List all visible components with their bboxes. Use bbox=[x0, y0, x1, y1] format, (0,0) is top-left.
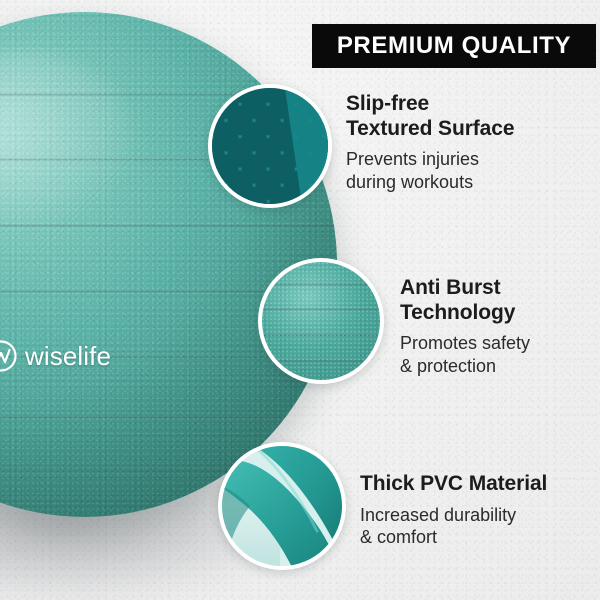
ball-surface-closeup-icon bbox=[258, 258, 384, 384]
banner-label: PREMIUM QUALITY bbox=[337, 32, 571, 60]
folded-pvc-sheet-icon bbox=[218, 442, 346, 570]
brand-wordmark: wiselife bbox=[25, 341, 111, 372]
feature-thick-pvc-material: Thick PVC Material Increased durability … bbox=[218, 442, 547, 570]
feature-slip-free-textured-surface: Slip-free Textured Surface Prevents inju… bbox=[208, 84, 514, 208]
feature-title: Anti Burst Technology bbox=[400, 276, 530, 325]
premium-quality-banner: PREMIUM QUALITY bbox=[312, 24, 596, 68]
feature-subtitle: Promotes safety & protection bbox=[400, 332, 530, 377]
feature-title: Thick PVC Material bbox=[360, 472, 547, 497]
feature-anti-burst-technology: Anti Burst Technology Promotes safety & … bbox=[258, 258, 530, 384]
feature-subtitle: Prevents injuries during workouts bbox=[346, 148, 514, 193]
feature-subtitle: Increased durability & comfort bbox=[360, 504, 547, 549]
wiselife-emblem-icon bbox=[0, 339, 18, 373]
feature-title: Slip-free Textured Surface bbox=[346, 92, 514, 141]
hexagon-texture-icon bbox=[208, 84, 332, 208]
product-feature-graphic: wiselife PREMIUM QUALITY bbox=[0, 0, 600, 600]
brand-logo: wiselife bbox=[0, 339, 111, 373]
